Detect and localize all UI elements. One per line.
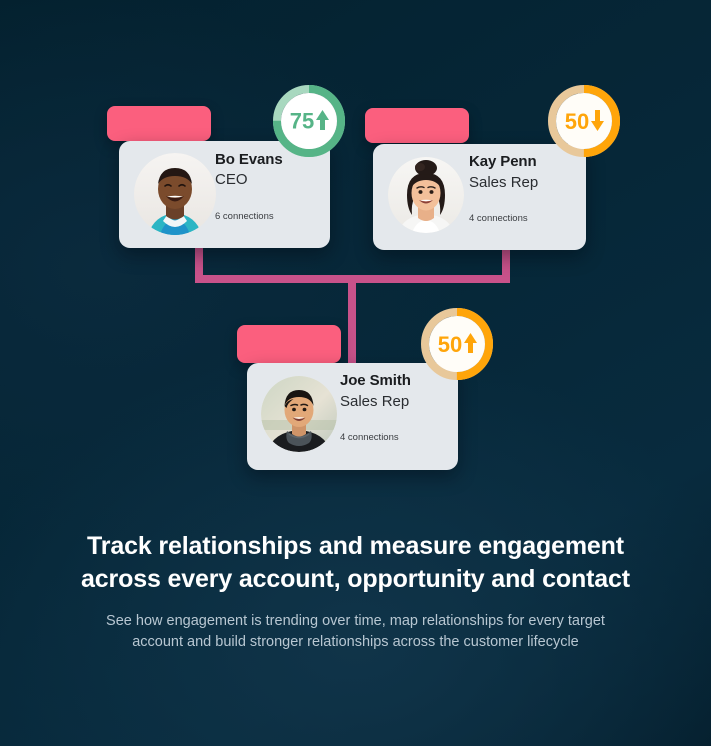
engagement-score-badge-bo-evans[interactable]: 75 (272, 84, 346, 158)
person-role: Sales Rep (469, 174, 538, 191)
headline-line-1: Track relationships and measure engageme… (0, 530, 711, 563)
person-connections: 4 connections (469, 213, 528, 224)
engagement-score-badge-kay-penn[interactable]: 50 (547, 84, 621, 158)
subcopy-line-1: See how engagement is trending over time… (0, 611, 711, 632)
person-connections: 6 connections (215, 211, 274, 222)
avatar-photo-joe-smith (261, 376, 337, 452)
card-tab-joe-smith[interactable] (237, 325, 341, 363)
subcopy-line-2: account and build stronger relationships… (0, 632, 711, 653)
badge-score-value: 50 (438, 332, 462, 357)
card-tab-bo-evans[interactable] (107, 106, 211, 141)
person-role: CEO (215, 171, 248, 188)
person-name: Kay Penn (469, 153, 537, 170)
badge-score-value: 75 (290, 109, 314, 134)
person-name: Joe Smith (340, 372, 411, 389)
promo-graphic: Bo Evans CEO 6 connections 75 (0, 0, 711, 746)
card-tab-kay-penn[interactable] (365, 108, 469, 143)
person-connections: 4 connections (340, 432, 399, 443)
engagement-score-badge-joe-smith[interactable]: 50 (420, 307, 494, 381)
person-role: Sales Rep (340, 393, 409, 410)
person-card-kay-penn[interactable]: Kay Penn Sales Rep 4 connections (373, 144, 586, 250)
badge-score-value: 50 (565, 109, 589, 134)
headline-line-2: across every account, opportunity and co… (0, 563, 711, 596)
avatar-photo-bo-evans (134, 153, 216, 235)
avatar-photo-kay-penn (388, 157, 464, 233)
